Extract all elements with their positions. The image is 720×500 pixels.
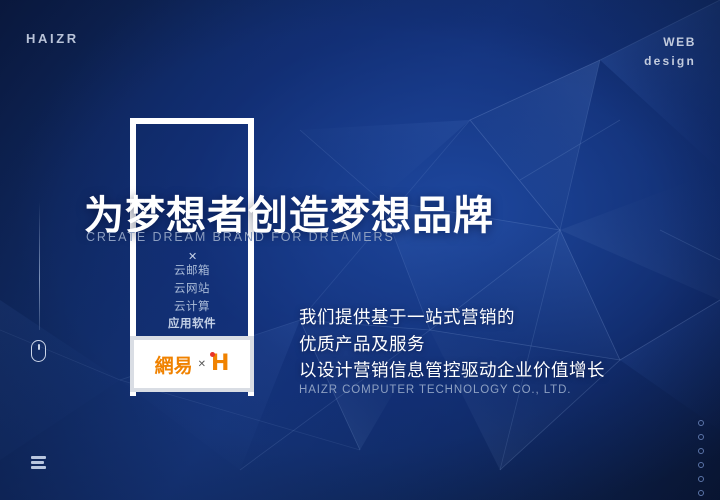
pagination-dot[interactable] [698, 434, 704, 440]
value-proposition-line1: 我们提供基于一站式营销的 [299, 305, 605, 332]
haizr-h-mark-icon: H [211, 353, 229, 375]
hamburger-bar-3 [31, 466, 46, 469]
cross-divider-icon: ✕ [188, 250, 197, 263]
page-subtitle: CREATE DREAM BRAND FOR DREAMERS [86, 230, 395, 244]
site-logo[interactable]: HAIZR [26, 31, 79, 46]
header-tagline-line2: design [644, 52, 696, 71]
menu-item-cloud-computing[interactable]: 云计算 [130, 299, 254, 317]
logo-separator-icon: ✕ [198, 359, 206, 370]
value-proposition-line3: 以设计营销信息管控驱动企业价值增长 [299, 358, 605, 385]
frame-top-bar [130, 118, 254, 124]
hero-slide: HAIZR WEB design 为梦想者创造梦想品牌 CREATE DREAM… [0, 0, 720, 500]
scroll-guide-line [39, 202, 40, 330]
pagination-dot[interactable] [698, 420, 704, 426]
hamburger-bar-1 [31, 456, 46, 459]
company-name: HAIZR COMPUTER TECHNOLOGY CO., LTD. [299, 384, 571, 396]
menu-item-cloud-mail[interactable]: 云邮箱 [130, 263, 254, 281]
menu-item-application-software[interactable]: 应用软件 [130, 316, 254, 334]
menu-item-cloud-website[interactable]: 云网站 [130, 281, 254, 299]
pagination-dot[interactable] [698, 462, 704, 468]
hamburger-menu-icon[interactable] [31, 456, 46, 471]
pagination-dots[interactable] [698, 420, 704, 496]
header-tagline: WEB design [644, 33, 696, 70]
value-proposition-text: 我们提供基于一站式营销的 优质产品及服务 以设计营销信息管控驱动企业价值增长 [299, 305, 605, 385]
vignette-overlay [0, 0, 720, 500]
netease-logo-text: 網易 [155, 351, 193, 378]
haizr-mark-dot-icon [210, 352, 215, 357]
mouse-wheel-icon [38, 344, 40, 350]
polygon-background-decoration [0, 0, 720, 500]
header-tagline-line1: WEB [644, 33, 696, 52]
hamburger-bar-2 [31, 461, 44, 464]
pagination-dot[interactable] [698, 476, 704, 482]
service-menu: 云邮箱 云网站 云计算 应用软件 [130, 263, 254, 334]
partner-logo-card[interactable]: 網易 ✕ H [130, 336, 254, 392]
mouse-scroll-icon[interactable] [31, 340, 46, 362]
value-proposition-line2: 优质产品及服务 [299, 332, 605, 359]
pagination-dot[interactable] [698, 490, 704, 496]
pagination-dot[interactable] [698, 448, 704, 454]
